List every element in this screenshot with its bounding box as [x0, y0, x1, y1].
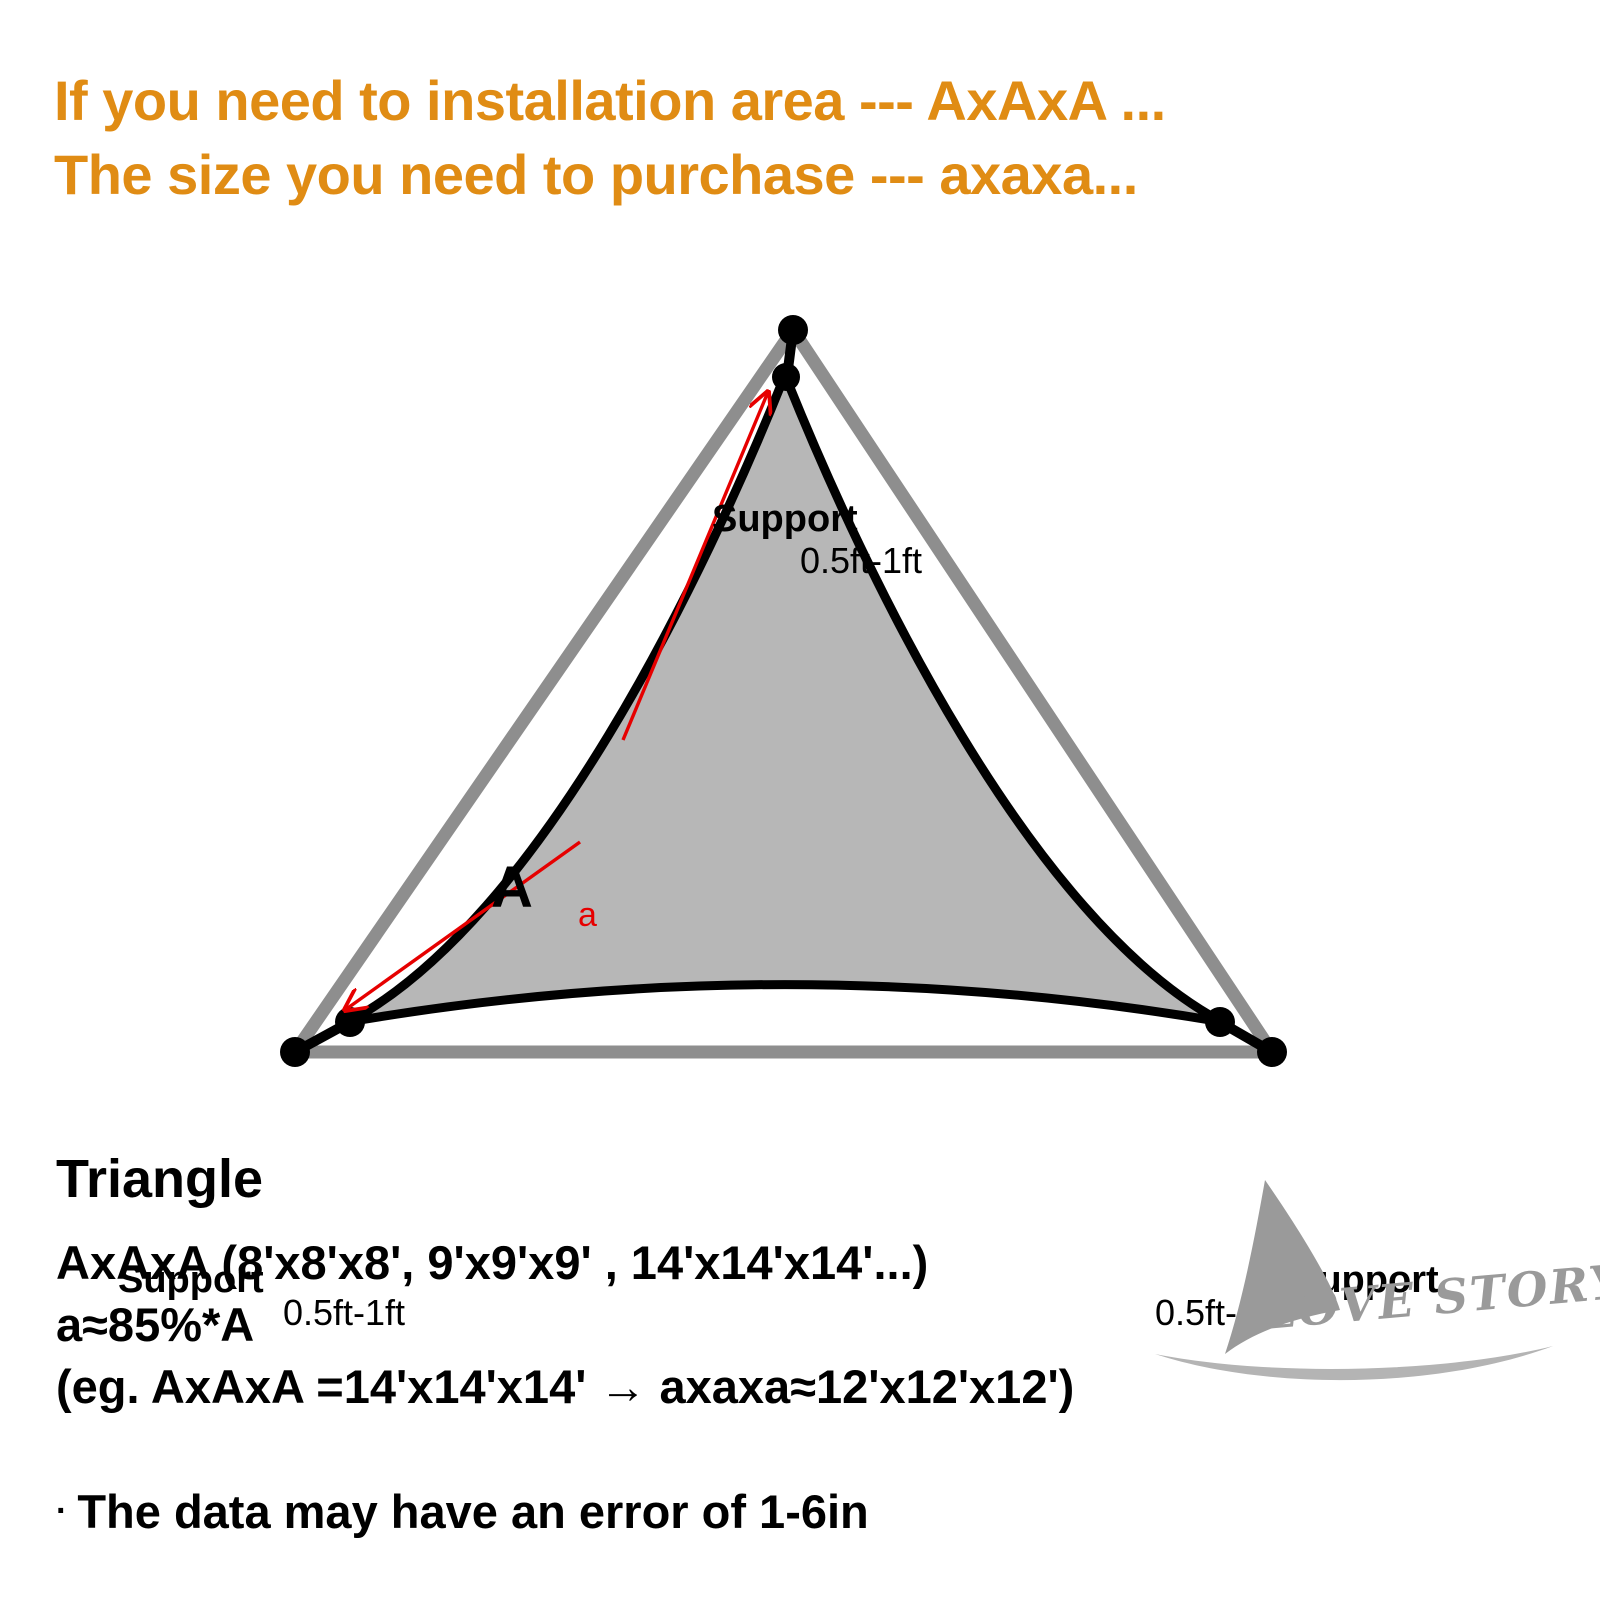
shade-sail-diagram: Support 0.5ft-1ft Support 0.5ft-1ft Supp… [0, 230, 1600, 1130]
support-point-top [778, 315, 808, 345]
shade-sail-shape [348, 375, 1222, 1022]
specs-block: Triangle AxAxA (8'x8'x8', 9'x9'x9' , 14'… [56, 1148, 1236, 1418]
headline-line-2: The size you need to purchase --- axaxa.… [54, 138, 1474, 212]
headline-line-1: If you need to installation area --- AxA… [54, 64, 1474, 138]
error-note-text: The data may have an error of 1-6in [77, 1485, 868, 1538]
diagram-svg [0, 230, 1600, 1130]
specs-example: (eg. AxAxA =14'x14'x14' → axaxa≈12'x12'x… [56, 1356, 1236, 1418]
error-note: ·The data may have an error of 1-6in [56, 1484, 869, 1539]
sail-corner-right [1205, 1007, 1235, 1037]
bullet-icon: · [56, 1492, 67, 1530]
specs-sizes: AxAxA (8'x8'x8', 9'x9'x9' , 14'x14'x14'.… [56, 1232, 1236, 1294]
side-label-a: a [578, 896, 597, 935]
sail-corner-left [335, 1007, 365, 1037]
specs-title: Triangle [56, 1148, 1236, 1210]
side-label-A: A [491, 854, 533, 921]
headline-block: If you need to installation area --- AxA… [54, 64, 1474, 212]
sail-corner-top [772, 363, 800, 391]
specs-ratio: a≈85%*A [56, 1294, 1236, 1356]
support-point-left [280, 1037, 310, 1067]
gap-label-top: 0.5ft-1ft [800, 540, 922, 582]
brand-logo: LOVE STORY [1155, 1168, 1555, 1388]
support-point-right [1257, 1037, 1287, 1067]
support-label-top: Support [712, 498, 858, 541]
logo-swoosh-icon [1155, 1346, 1553, 1380]
